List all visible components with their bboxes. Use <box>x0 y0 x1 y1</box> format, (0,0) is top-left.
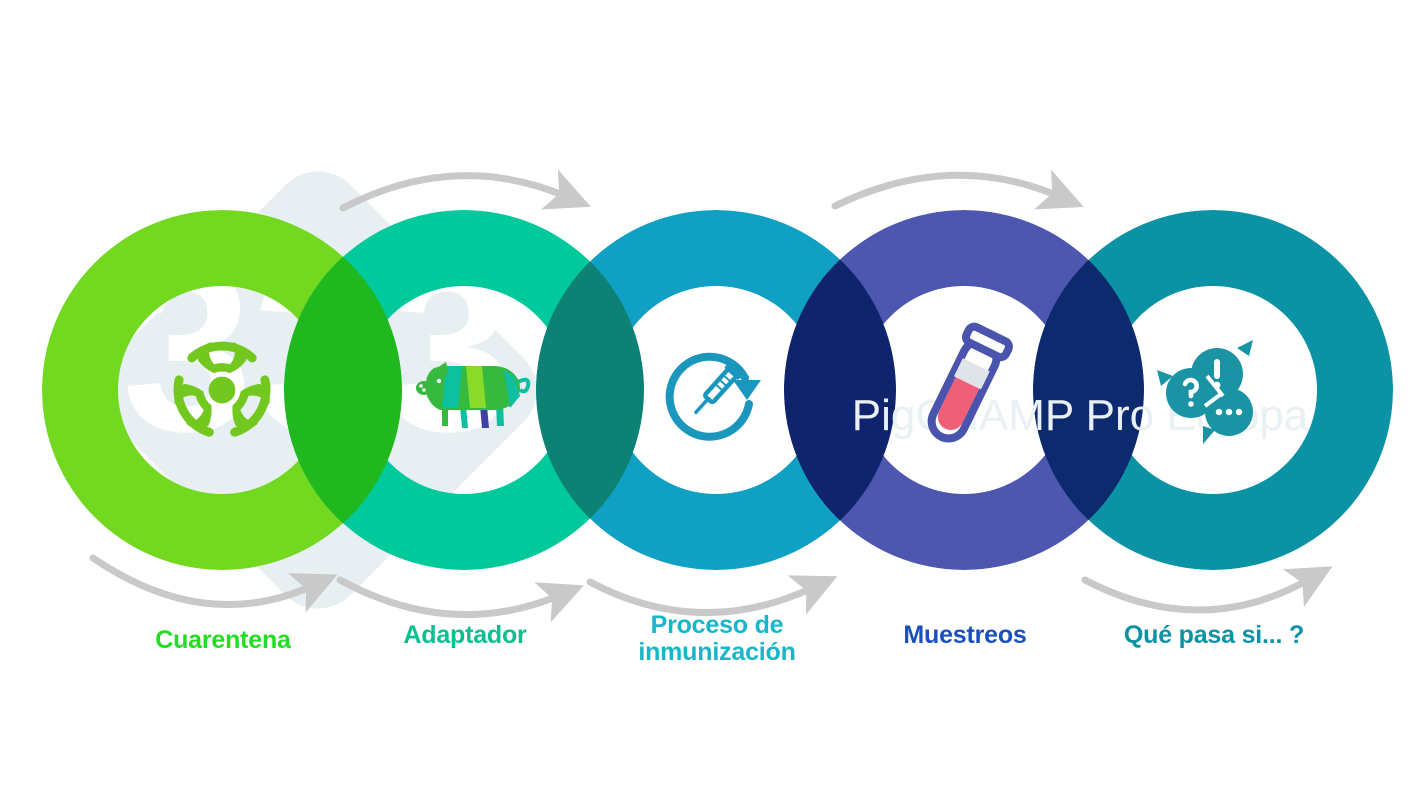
process-diagram: 333 <box>0 0 1414 797</box>
arrow-bottom-2 <box>340 580 558 615</box>
arrow-top-1 <box>343 176 565 208</box>
arrow-bottom-3 <box>590 582 812 613</box>
arrow-bottom-4 <box>1085 580 1308 610</box>
arrow-top-2 <box>835 175 1058 206</box>
infographic-canvas: 333 <box>0 0 1414 797</box>
